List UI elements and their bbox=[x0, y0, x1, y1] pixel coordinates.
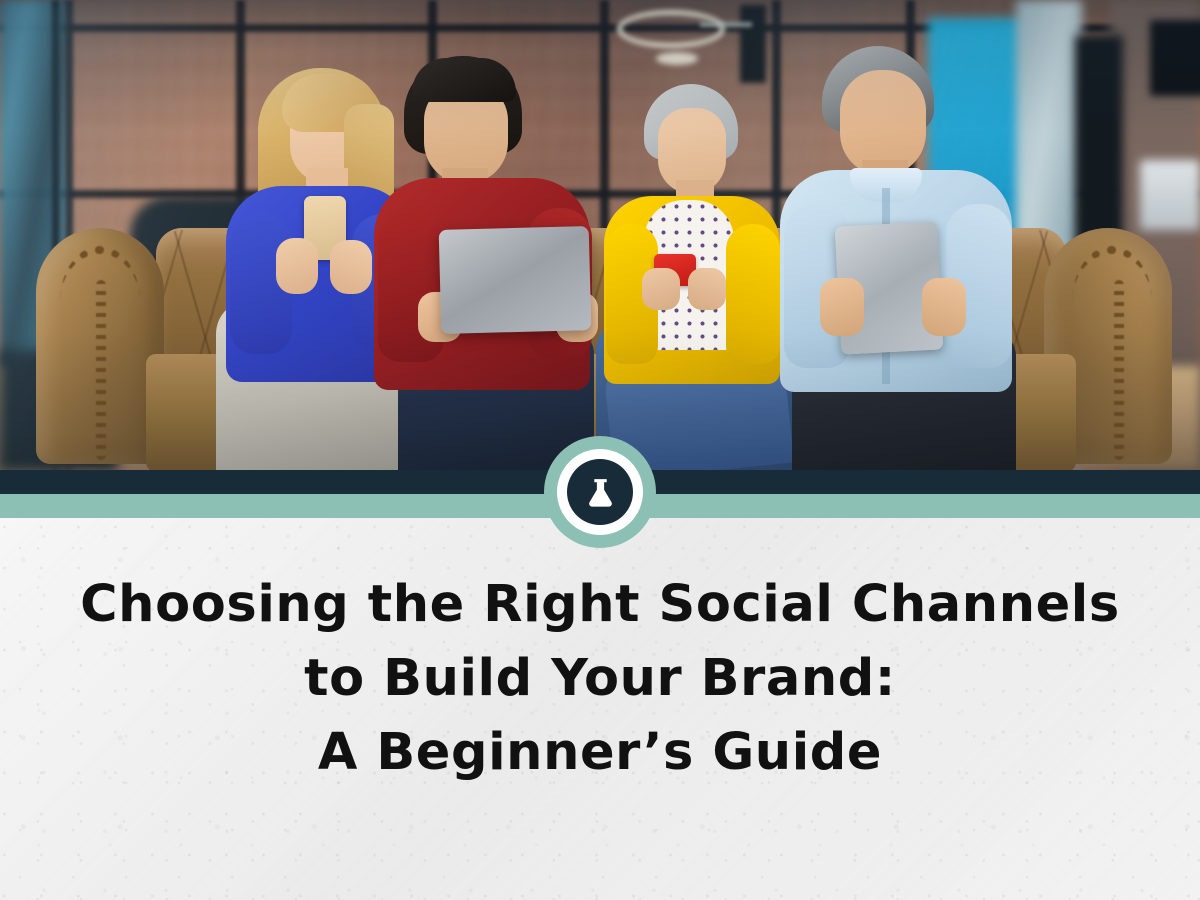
person-2-laptop bbox=[439, 226, 592, 334]
hero-photo bbox=[0, 0, 1200, 470]
person-4-hand-right bbox=[922, 278, 966, 336]
person-3-arm-right bbox=[726, 224, 780, 364]
person-1-hand-left bbox=[276, 238, 318, 294]
person-3-hand-right bbox=[688, 268, 726, 310]
banner-canvas: Choosing the Right Social Channels to Bu… bbox=[0, 0, 1200, 900]
brand-badge bbox=[544, 436, 656, 548]
page-title: Choosing the Right Social Channels to Bu… bbox=[0, 568, 1200, 790]
person-4-hand-left bbox=[820, 278, 864, 336]
person-1-hand-right bbox=[330, 240, 372, 294]
title-line-2: to Build Your Brand: bbox=[0, 642, 1200, 716]
person-2-hair-front bbox=[412, 58, 516, 102]
lab-flask-icon bbox=[584, 476, 617, 509]
badge-core bbox=[567, 459, 633, 525]
title-line-3: A Beginner’s Guide bbox=[0, 716, 1200, 790]
person-3-hand-left bbox=[642, 268, 680, 310]
nailhead-trim-left bbox=[96, 280, 106, 460]
nailhead-trim-right bbox=[1114, 280, 1124, 460]
title-line-1: Choosing the Right Social Channels bbox=[0, 568, 1200, 642]
badge-white-ring bbox=[557, 449, 643, 535]
